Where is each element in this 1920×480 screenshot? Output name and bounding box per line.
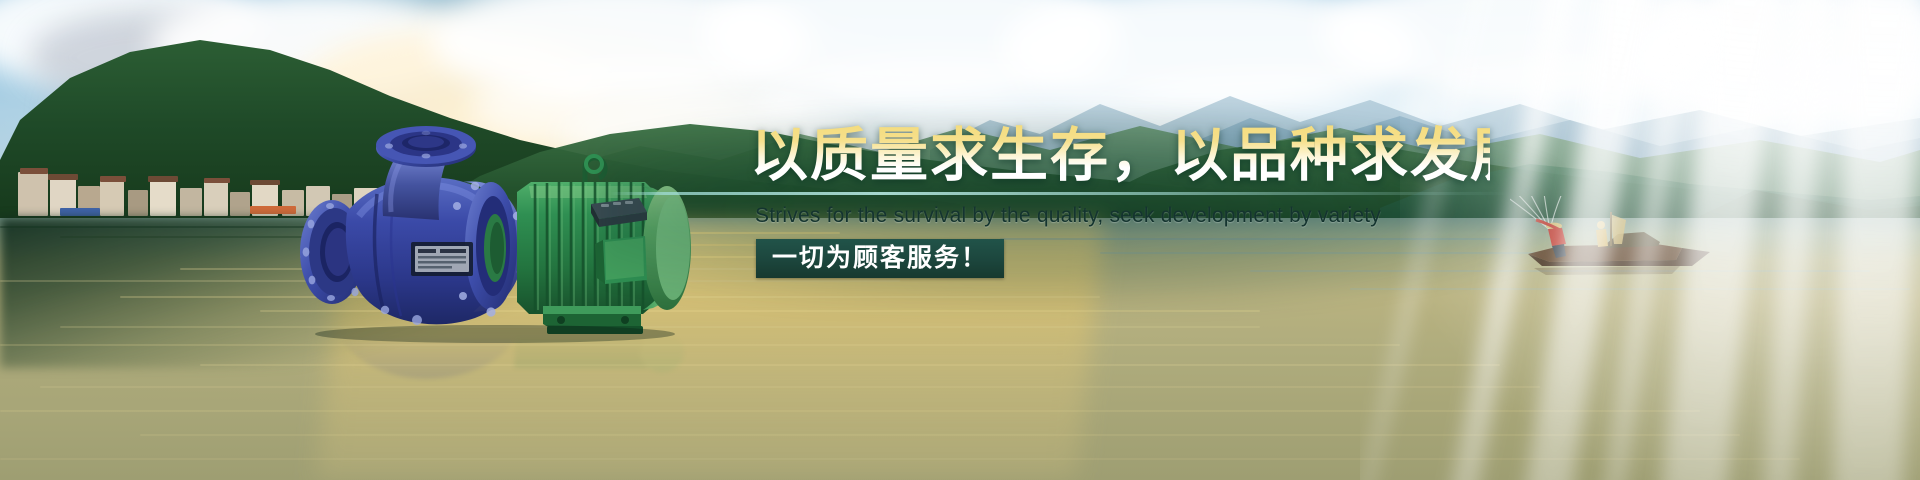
- fisherman-boat: [1510, 196, 1720, 276]
- hero-banner: 以质量求生存，以品种求发展 Strives for the survival b…: [0, 0, 1920, 480]
- lifting-eye-icon: [585, 156, 605, 182]
- headline-divider: [610, 192, 1510, 195]
- fishing-net-icon: [1510, 196, 1578, 230]
- pump-water-reflection: [300, 330, 690, 408]
- pump-nameplate: [411, 242, 473, 276]
- centrifugal-pump-product-image: [285, 120, 705, 345]
- banner-text-block: 以质量求生存，以品种求发展 Strives for the survival b…: [750, 125, 1490, 278]
- banner-subtitle: Strives for the survival by the quality,…: [755, 204, 1490, 228]
- service-slogan-badge: 一切为顾客服务！: [756, 239, 1004, 279]
- banner-headline: 以质量求生存，以品种求发展: [750, 125, 1490, 186]
